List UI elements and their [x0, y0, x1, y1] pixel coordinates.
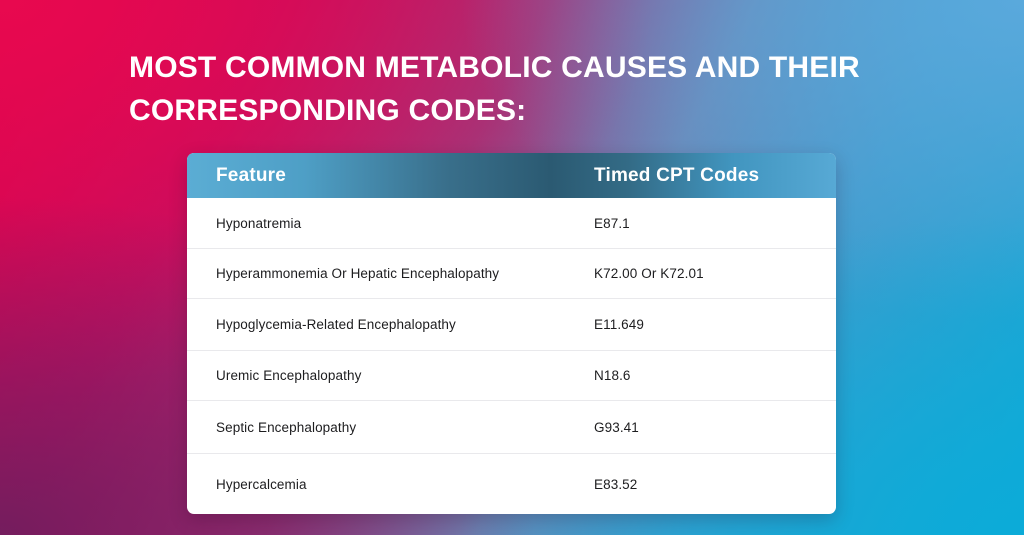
table-header-row: Feature Timed CPT Codes	[187, 153, 836, 198]
table-row: Hyperammonemia Or Hepatic Encephalopathy…	[187, 248, 836, 298]
column-header-feature: Feature	[187, 165, 594, 187]
cell-feature: Septic Encephalopathy	[187, 420, 594, 435]
cell-feature: Uremic Encephalopathy	[187, 368, 594, 383]
cell-feature: Hyponatremia	[187, 216, 594, 231]
codes-table-card: Feature Timed CPT Codes Hyponatremia E87…	[187, 153, 836, 514]
column-header-timed-cpt-codes: Timed CPT Codes	[594, 165, 836, 187]
cell-code: N18.6	[594, 368, 836, 383]
cell-code: E11.649	[594, 317, 836, 332]
cell-feature: Hyperammonemia Or Hepatic Encephalopathy	[187, 266, 594, 281]
cell-code: K72.00 Or K72.01	[594, 266, 836, 281]
table-body: Hyponatremia E87.1 Hyperammonemia Or Hep…	[187, 198, 836, 514]
cell-code: E83.52	[594, 477, 836, 492]
table-row: Septic Encephalopathy G93.41	[187, 400, 836, 453]
cell-code: G93.41	[594, 420, 836, 435]
page-title-line-2: CORRESPONDING CODES:	[129, 89, 929, 132]
table-row: Uremic Encephalopathy N18.6	[187, 350, 836, 400]
table-row: Hypoglycemia-Related Encephalopathy E11.…	[187, 298, 836, 350]
page-title-line-1: MOST COMMON METABOLIC CAUSES AND THEIR	[129, 46, 929, 89]
cell-feature: Hypercalcemia	[187, 477, 594, 492]
table-row: Hyponatremia E87.1	[187, 198, 836, 248]
table-row: Hypercalcemia E83.52	[187, 453, 836, 514]
page-title: MOST COMMON METABOLIC CAUSES AND THEIR C…	[129, 46, 929, 132]
cell-code: E87.1	[594, 216, 836, 231]
cell-feature: Hypoglycemia-Related Encephalopathy	[187, 317, 594, 332]
